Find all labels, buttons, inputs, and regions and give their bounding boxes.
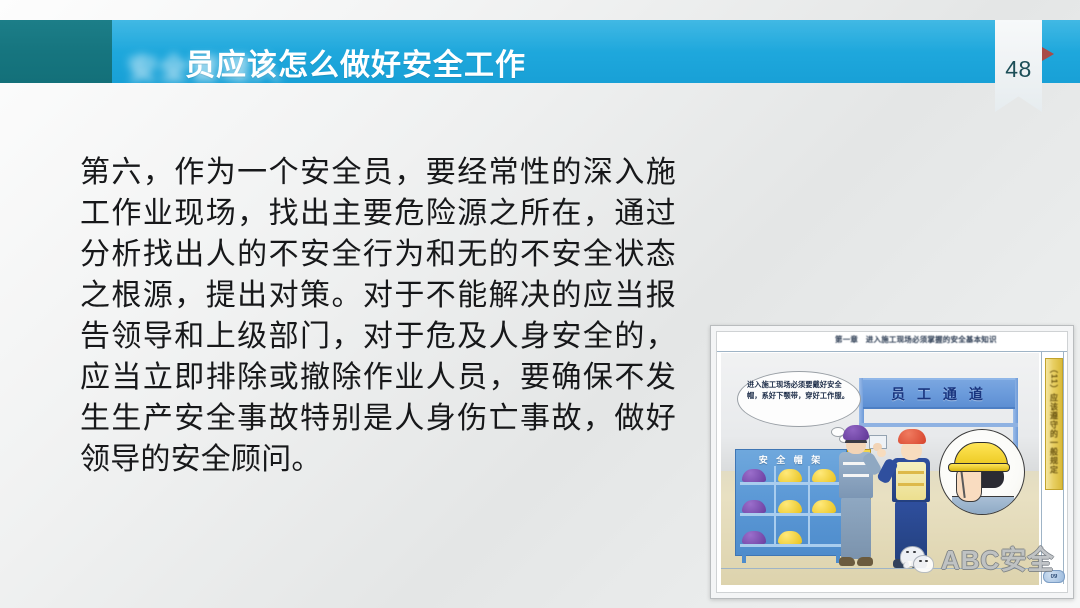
employee-gate-banner-text: 员 工 通 道: [891, 384, 987, 404]
rack-shelf: [740, 482, 842, 485]
illustration-figure: 第一章 进入施工现场必须掌握的安全基本知识 员 工 通 道 进入施工现场必须要戴…: [710, 325, 1074, 599]
worker-a-legs: [841, 497, 871, 559]
worker-a-helmet: [843, 425, 869, 440]
illustration-scene: 员 工 通 道 进入施工现场必须要戴好安全帽，系好下颚带，穿好工作服。 安 全 …: [721, 353, 1039, 585]
illustration-rule-left: [1041, 352, 1042, 584]
gate-rail: [859, 423, 1018, 427]
helmet-purple: [742, 500, 766, 513]
chinstrap-closeup-inset: [939, 429, 1025, 515]
rack-leg-left: [742, 551, 746, 563]
page-number-ribbon: 48: [995, 20, 1042, 112]
helmet-purple: [742, 469, 766, 482]
illustration-side-tab: （11）应该遵守的一般规定: [1045, 358, 1063, 490]
illustration-bottom-rule: [721, 568, 1039, 569]
helmet-yellow: [778, 500, 802, 513]
worker-b-reflective-vest: [896, 462, 926, 500]
illustration-page: 第一章 进入施工现场必须掌握的安全基本知识 员 工 通 道 进入施工现场必须要戴…: [716, 331, 1068, 593]
worker-b-shoe-left: [893, 559, 909, 568]
header-teal-block: [0, 20, 112, 83]
body-paragraph: 第六，作为一个安全员，要经常性的深入施工作业现场，找出主要危险源之所在，通过分析…: [80, 152, 676, 480]
helmet-purple: [742, 531, 766, 544]
page-title: 员应该怎么做好安全工作: [185, 40, 526, 84]
worker-b-helmet: [898, 429, 926, 444]
worker-b-vest-stripe: [898, 471, 924, 474]
worker-b-vest-stripe: [898, 483, 924, 486]
illustration-side-tab-text: （11）应该遵守的一般规定: [1049, 365, 1060, 474]
worker-a-shoe-right: [857, 557, 873, 566]
rack-shelf: [740, 513, 842, 516]
illustration-rule-right: [1063, 352, 1064, 584]
employee-gate-banner: 员 工 通 道: [863, 378, 1015, 409]
rack-divider: [774, 466, 776, 546]
worker-b-hand: [877, 449, 886, 457]
worker-purple-helmet: [833, 425, 881, 575]
worker-b-shoe-right: [911, 559, 927, 568]
slide-canvas: 安全管理人 员应该怎么做好安全工作 48 第六，作为一个安全员，要经常性的深入施…: [0, 0, 1080, 608]
rack-divider: [808, 466, 810, 546]
worker-b-legs: [895, 501, 927, 561]
helmet-rack: 安 全 帽 架: [735, 449, 847, 556]
worker-red-helmet: [887, 429, 939, 577]
worker-a-shoe-left: [839, 557, 855, 566]
inset-helmet-brim: [948, 463, 1010, 472]
ribbon-fold-icon: [1042, 47, 1054, 61]
illustration-chapter-title: 第一章 进入施工现场必须掌握的安全基本知识: [835, 334, 997, 345]
speech-bubble: 进入施工现场必须要戴好安全帽，系好下颚带，穿好工作服。: [737, 371, 861, 427]
page-number: 48: [1005, 56, 1032, 83]
rack-shelf: [740, 544, 842, 547]
illustration-page-badge: 09: [1043, 570, 1065, 583]
helmet-yellow: [778, 469, 802, 482]
illustration-page-badge-text: 09: [1051, 574, 1058, 580]
slide-header: 安全管理人 员应该怎么做好安全工作 48: [0, 20, 1080, 83]
worker-a-vest-stripe: [843, 474, 869, 477]
speech-bubble-text: 进入施工现场必须要戴好安全帽，系好下颚带，穿好工作服。: [747, 379, 851, 401]
helmet-rack-label: 安 全 帽 架: [736, 453, 846, 466]
helmet-yellow: [778, 531, 802, 544]
